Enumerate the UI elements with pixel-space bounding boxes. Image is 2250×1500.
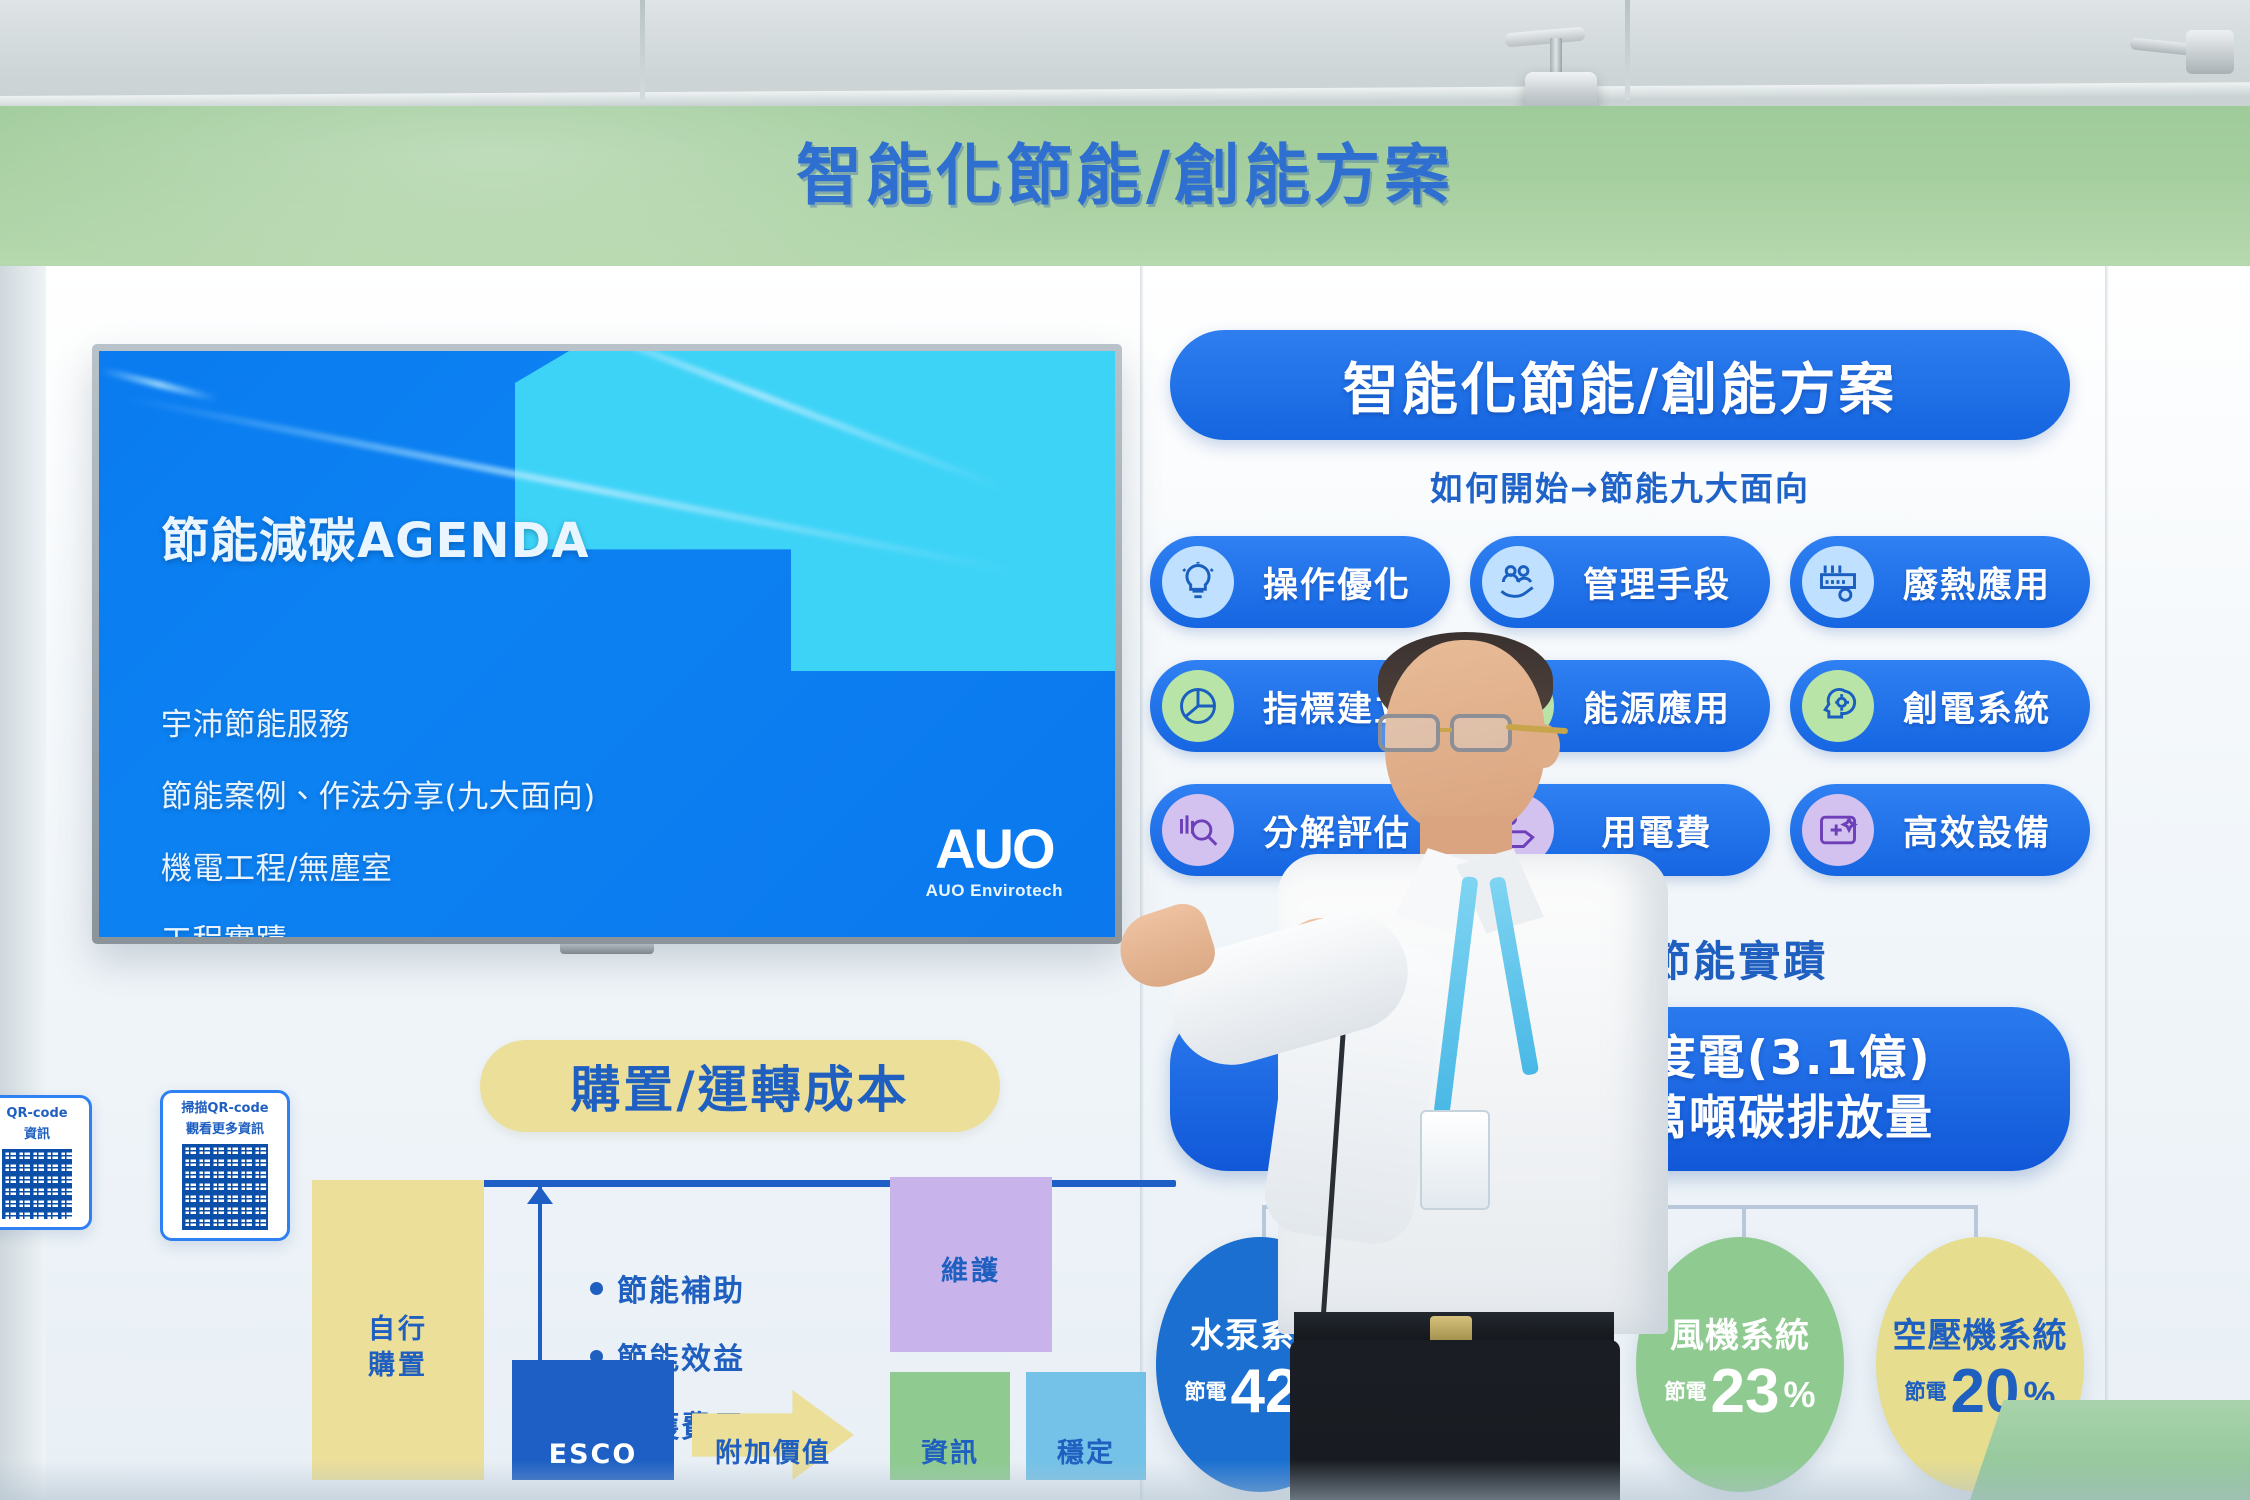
aspect-pill-operation-optimization[interactable]: 操作優化 (1150, 536, 1450, 628)
aspect-pill-label: 高效設備 (1874, 805, 2090, 856)
wall-left-edge (0, 266, 46, 1500)
aspect-pill-waste-heat[interactable]: 廢熱應用 (1790, 536, 2090, 628)
stat-value: 23 (1711, 1363, 1780, 1422)
bullet-dot-icon (590, 1282, 603, 1295)
presenter-glasses (1378, 714, 1528, 754)
presenter-badge (1420, 1110, 1490, 1210)
slide-bullet-item: 節能案例、作法分享(九大面向) (161, 771, 596, 816)
poster-subheading: 如何開始→節能九大面向 (1150, 462, 2090, 510)
bar-label-line2: 購置 (368, 1350, 428, 1381)
qr-card-caption-line2: 觀看更多資訊 (169, 1122, 281, 1138)
aspect-pill-label: 創電系統 (1874, 681, 2090, 732)
slide-cyan-shape (515, 351, 1115, 671)
aspect-pill-label: 操作優化 (1234, 557, 1450, 608)
aspect-pill-high-efficiency-equipment[interactable]: 高效設備 (1790, 784, 2090, 876)
auo-logo: AUO AUO Envirotech (926, 821, 1063, 901)
ceiling-panel-line (640, 0, 645, 100)
qr-card[interactable]: 掃描QR-code 觀看更多資訊 (160, 1090, 290, 1241)
slide-bullet-item: 宇沛節能服務 (161, 699, 596, 744)
slide-bullet-item: 機電工程/無塵室 (161, 843, 596, 888)
presentation-display: 節能減碳AGENDA 宇沛節能服務 節能案例、作法分享(九大面向) 機電工程/無… (92, 344, 1122, 944)
aspect-pill-label: 廢熱應用 (1874, 557, 2090, 608)
slide-title: 節能減碳AGENDA (161, 501, 590, 571)
lightbulb-icon (1162, 546, 1234, 618)
cost-panel-title-badge: 購置/運轉成本 (480, 1040, 1000, 1132)
poster-heading-badge: 智能化節能/創能方案 (1170, 330, 2070, 440)
people-hand-icon (1482, 546, 1554, 618)
cost-bar-chart: 自行 購置 節能補助 節能效益 維護費用 ESCO 附加價值 (300, 1180, 1180, 1470)
stat-tag: 節電 (1665, 1382, 1707, 1403)
bar-label-self-purchase: 自行 購置 (312, 1312, 484, 1385)
qr-code-image[interactable] (182, 1144, 268, 1230)
stat-tag: 節電 (1185, 1382, 1227, 1403)
glasses-bridge (1440, 728, 1452, 732)
aspect-pill-label: 管理手段 (1554, 557, 1770, 608)
qr-card-caption-line1: 掃描QR-code (169, 1101, 281, 1117)
stat-percent-sign: % (1783, 1374, 1815, 1416)
spotlight-head-right (2186, 30, 2234, 74)
qr-card[interactable]: QR-code 資訊 (0, 1095, 92, 1230)
aspect-pill-management[interactable]: 管理手段 (1470, 536, 1770, 628)
slide-streak (100, 367, 218, 403)
booth-band-title: 智能化節能/創能方案 (0, 122, 2250, 218)
wall-seam (2105, 266, 2109, 1500)
bar-maintenance: 維護 (890, 1177, 1052, 1352)
stat-system-name: 風機系統 (1670, 1308, 1810, 1357)
stat-connector-stem (1742, 1205, 1746, 1237)
bar-self-purchase: 自行 購置 (312, 1180, 484, 1480)
qr-card-caption-line1: QR-code (0, 1106, 83, 1122)
savings-bullet-item: 節能補助 (590, 1266, 745, 1310)
magnifier-data-icon (1162, 794, 1234, 866)
bar-label-line1: 自行 (368, 1314, 428, 1345)
slide-bullet-item: 工程實蹟 (161, 915, 596, 937)
booth-scene: 智能化節能/創能方案 節能減碳AGENDA 宇沛節能服務 節能案例、作法分享(九… (0, 0, 2250, 1500)
bar-label-maintenance: 維護 (890, 1254, 1052, 1290)
stat-connector-stem (1262, 1205, 1266, 1237)
brain-idea-icon (1802, 670, 1874, 742)
slide-bullet-list: 宇沛節能服務 節能案例、作法分享(九大面向) 機電工程/無塵室 工程實蹟 (161, 699, 596, 937)
tv-screen: 節能減碳AGENDA 宇沛節能服務 節能案例、作法分享(九大面向) 機電工程/無… (99, 351, 1115, 937)
ceiling-panel-line (1625, 0, 1630, 100)
tv-stand (560, 944, 654, 954)
panel-plus-icon (1802, 794, 1874, 866)
glasses-lens-right (1450, 714, 1512, 752)
factory-gear-icon (1802, 546, 1874, 618)
qr-code-image[interactable] (2, 1149, 72, 1219)
poster-heading: 智能化節能/創能方案 (1343, 345, 1897, 426)
stat-value-row: 節電 23 % (1665, 1363, 1816, 1422)
aspect-pill-power-generation[interactable]: 創電系統 (1790, 660, 2090, 752)
auo-logo-wordmark: AUO (926, 821, 1063, 877)
stat-tag: 節電 (1905, 1382, 1947, 1403)
qr-card-caption-line2: 資訊 (0, 1127, 83, 1143)
stat-system-name: 空壓機系統 (1893, 1308, 2068, 1357)
cost-panel-title: 購置/運轉成本 (570, 1050, 909, 1122)
stat-connector-stem (1974, 1205, 1978, 1237)
floor-shadow (0, 1460, 2250, 1500)
presenter (1270, 640, 1670, 1500)
pie-chart-icon (1162, 670, 1234, 742)
cost-panel: 購置/運轉成本 自行 購置 節能補助 節能效益 維護費用 ESCO (300, 1020, 1180, 1500)
auo-logo-subtitle: AUO Envirotech (926, 881, 1063, 901)
glasses-lens-left (1378, 714, 1440, 752)
